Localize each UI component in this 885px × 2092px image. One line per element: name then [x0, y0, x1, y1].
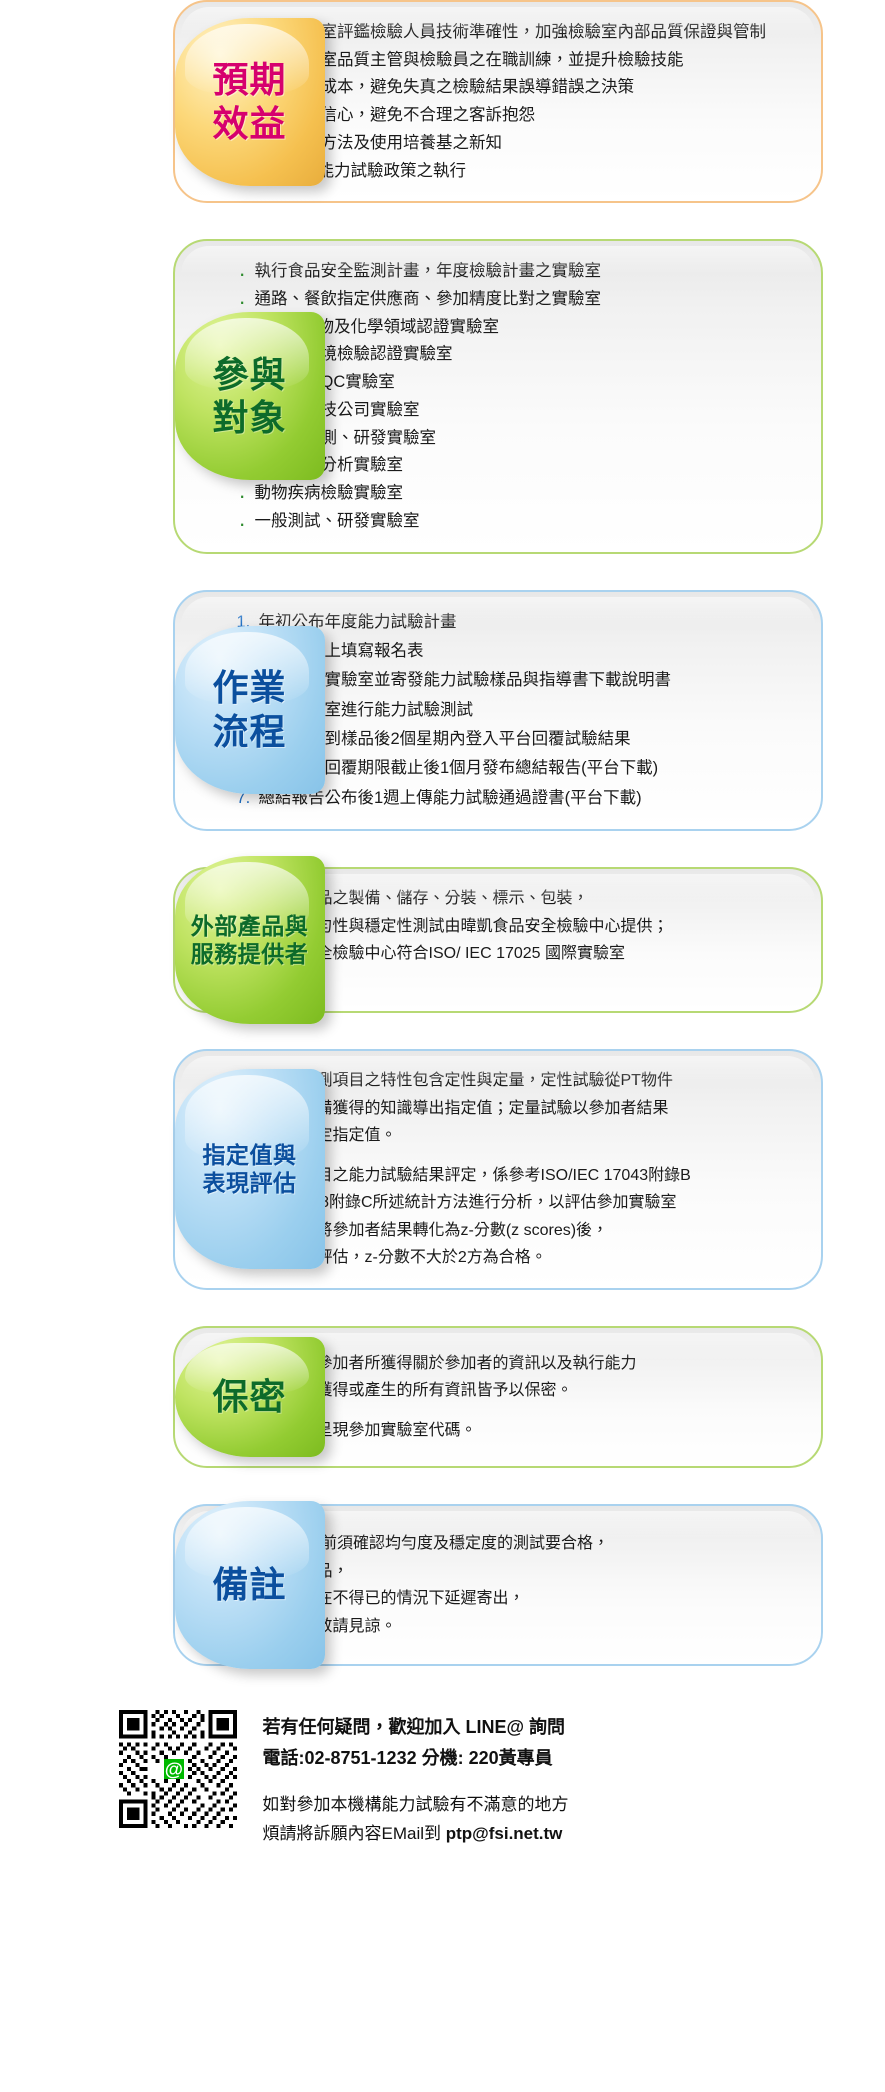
- badge-assigned-value: 指定值與 表現評估: [175, 1069, 325, 1269]
- footer-complaint-block: 如對參加本機構能力試驗有不滿意的地方 煩請將訴願內容EMail到 ptp@fsi…: [263, 1790, 569, 1848]
- badge-label: 預期 效益: [212, 58, 286, 146]
- spacer: [0, 1290, 885, 1326]
- section-frame: 備註 PT樣品寄出前須確認均勻度及穩定度的測試要合格， 才能寄出樣品， 故有可能…: [173, 1504, 823, 1666]
- spacer: [0, 831, 885, 867]
- section-expected-benefits: 預期 效益 協助實驗室評鑑檢驗人員技術準確性，加強檢驗室內部品質保證與管制 強化…: [63, 0, 823, 203]
- badge-workflow: 作業 流程: [175, 626, 325, 794]
- section-workflow: 作業 流程 1. 年初公布年度能力試驗計畫 2. 參加者線上填寫報名表 3. 通…: [63, 590, 823, 832]
- badge-external-providers: 外部產品與 服務提供者: [175, 856, 325, 1024]
- section-confidentiality: 保密 本機構對從參加者所獲得關於參加者的資訊以及執行能力 試驗活動所獲得或產生的…: [63, 1326, 823, 1469]
- badge-expected-benefits: 預期 效益: [175, 18, 325, 186]
- line-qr-code-icon[interactable]: @: [119, 1710, 237, 1828]
- section-external-providers: 外部產品與 服務提供者 能力試驗樣品之製備、儲存、分裝、標示、包裝， 以及樣品均…: [63, 867, 823, 1013]
- section-frame: 參與 對象 執行食品安全監測計畫，年度檢驗計畫之實驗室 通路、餐飲指定供應商、參…: [173, 239, 823, 553]
- at-symbol-icon: @: [164, 1759, 182, 1780]
- section-frame: 作業 流程 1. 年初公布年度能力試驗計畫 2. 參加者線上填寫報名表 3. 通…: [173, 590, 823, 832]
- section-frame: 指定值與 表現評估 能力試驗檢測項目之特性包含定性與定量，定性試驗從PT物件 的…: [173, 1049, 823, 1290]
- badge-participants: 參與 對象: [175, 312, 325, 480]
- footer-email-prefix: 煩請將訴願內容EMail到: [263, 1824, 446, 1843]
- section-frame: 保密 本機構對從參加者所獲得關於參加者的資訊以及執行能力 試驗活動所獲得或產生的…: [173, 1326, 823, 1469]
- spacer: [0, 203, 885, 239]
- footer-text-block: 若有任何疑問，歡迎加入 LINE@ 詢問 電話:02-8751-1232 分機:…: [237, 1710, 569, 1848]
- badge-label: 備註: [212, 1563, 286, 1607]
- step-text: 年初公布年度能力試驗計畫: [259, 608, 799, 637]
- step-text: 參加者收到樣品後2個星期內登入平台回覆試驗結果: [259, 725, 799, 754]
- footer-line-complaint: 如對參加本機構能力試驗有不滿意的地方: [263, 1790, 569, 1819]
- section-assigned-value: 指定值與 表現評估 能力試驗檢測項目之特性包含定性與定量，定性試驗從PT物件 的…: [63, 1049, 823, 1290]
- section-participants: 參與 對象 執行食品安全監測計畫，年度檢驗計畫之實驗室 通路、餐飲指定供應商、參…: [63, 239, 823, 553]
- footer: @ 若有任何疑問，歡迎加入 LINE@ 詢問 電話:02-8751-1232 分…: [63, 1710, 823, 1848]
- list-item: 一般測試、研發實驗室: [237, 508, 799, 535]
- step-text: 參加者線上填寫報名表: [259, 637, 799, 666]
- section-frame: 外部產品與 服務提供者 能力試驗樣品之製備、儲存、分裝、標示、包裝， 以及樣品均…: [173, 867, 823, 1013]
- step-text: 總結報告公布後1週上傳能力試驗通過證書(平台下載): [259, 784, 799, 813]
- badge-label: 指定值與 表現評估: [203, 1141, 297, 1197]
- footer-line-line-invite: 若有任何疑問，歡迎加入 LINE@ 詢問: [263, 1712, 569, 1743]
- spacer: [0, 1468, 885, 1504]
- list-item: 動物疾病檢驗實驗室: [237, 480, 799, 507]
- footer-line-phone: 電話:02-8751-1232 分機: 220黃專員: [263, 1743, 569, 1774]
- step-text: 參加實驗室進行能力試驗測試: [259, 696, 799, 725]
- step-text: 檢測結果回覆期限截止後1個月發布總結報告(平台下載): [259, 754, 799, 783]
- badge-confidentiality: 保密: [175, 1337, 325, 1457]
- section-frame: 預期 效益 協助實驗室評鑑檢驗人員技術準確性，加強檢驗室內部品質保證與管制 強化…: [173, 0, 823, 203]
- section-remarks: 備註 PT樣品寄出前須確認均勻度及穩定度的測試要合格， 才能寄出樣品， 故有可能…: [63, 1504, 823, 1666]
- footer-line-email: 煩請將訴願內容EMail到 ptp@fsi.net.tw: [263, 1819, 569, 1848]
- footer-email-address[interactable]: ptp@fsi.net.tw: [446, 1824, 563, 1843]
- badge-label: 外部產品與 服務提供者: [191, 912, 309, 968]
- badge-remarks: 備註: [175, 1501, 325, 1669]
- list-item: 通路、餐飲指定供應商、參加精度比對之實驗室: [237, 286, 799, 313]
- spacer: [0, 1013, 885, 1049]
- badge-label: 參與 對象: [212, 353, 286, 441]
- list-item: 執行食品安全監測計畫，年度檢驗計畫之實驗室: [237, 258, 799, 285]
- step-text: 通知參加實驗室並寄發能力試驗樣品與指導書下載說明書: [259, 666, 799, 695]
- badge-label: 作業 流程: [212, 666, 286, 754]
- qr-svg: @: [119, 1710, 237, 1828]
- badge-label: 保密: [212, 1375, 286, 1419]
- spacer: [0, 554, 885, 590]
